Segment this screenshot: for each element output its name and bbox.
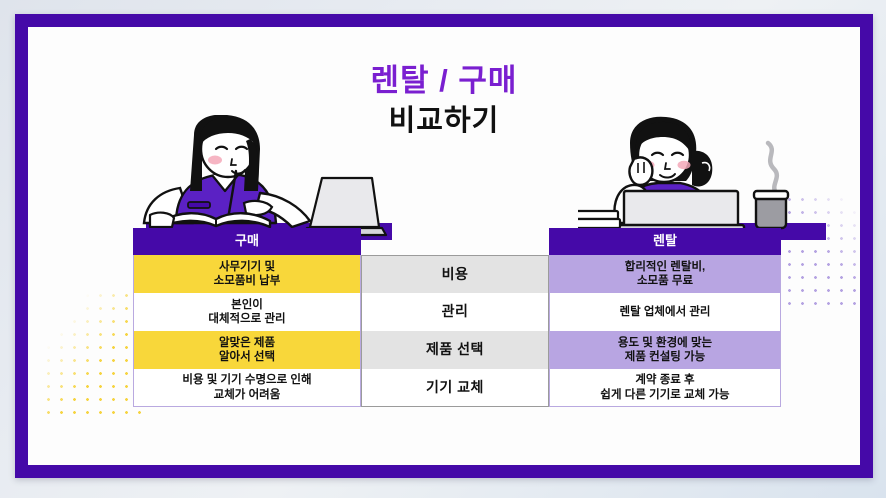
cell-rent-device-replacement-line-2: 쉽게 다른 기기로 교체 가능 [600, 388, 729, 402]
cell-label-management: 관리 [361, 293, 549, 331]
comparison-table: 구매 렌탈 사무기기 및 소모품비 납부 비용 합리적인 렌탈비, 소모품 무료 [133, 228, 781, 407]
cell-buy-device-replacement-line-1: 비용 및 기기 수명으로 인해 [182, 373, 311, 387]
table-header-middle-spacer [361, 228, 549, 255]
table-header-buy: 구매 [133, 228, 361, 255]
cell-rent-product-selection-line-1: 용도 및 환경에 맞는 [618, 336, 712, 350]
cell-buy-cost-line-2: 소모품비 납부 [214, 274, 281, 288]
cell-rent-product-selection: 용도 및 환경에 맞는 제품 컨설팅 가능 [549, 331, 781, 369]
cell-rent-cost-line-2: 소모품 무료 [625, 274, 705, 288]
cell-label-device-replacement: 기기 교체 [361, 369, 549, 407]
table-header-row: 구매 렌탈 [133, 228, 781, 255]
cell-rent-product-selection-line-2: 제품 컨설팅 가능 [618, 350, 712, 364]
cell-rent-device-replacement: 계약 종료 후 쉽게 다른 기기로 교체 가능 [549, 369, 781, 407]
cell-buy-product-selection-line-1: 알맞은 제품 [219, 336, 275, 350]
cell-buy-cost: 사무기기 및 소모품비 납부 [133, 255, 361, 293]
table-row: 사무기기 및 소모품비 납부 비용 합리적인 렌탈비, 소모품 무료 [133, 255, 781, 293]
table-row: 본인이 대체적으로 관리 관리 렌탈 업체에서 관리 [133, 293, 781, 331]
title-line-primary: 렌탈 / 구매 [28, 63, 860, 100]
cell-buy-product-selection: 알맞은 제품 알아서 선택 [133, 331, 361, 369]
cell-label-cost: 비용 [361, 255, 549, 293]
table-row: 알맞은 제품 알아서 선택 제품 선택 용도 및 환경에 맞는 제품 컨설팅 가… [133, 331, 781, 369]
cell-buy-device-replacement-line-2: 교체가 어려움 [182, 388, 311, 402]
table-row: 비용 및 기기 수명으로 인해 교체가 어려움 기기 교체 계약 종료 후 쉽게… [133, 369, 781, 407]
cell-rent-cost-line-1: 합리적인 렌탈비, [625, 260, 705, 274]
cell-rent-cost: 합리적인 렌탈비, 소모품 무료 [549, 255, 781, 293]
cell-label-product-selection: 제품 선택 [361, 331, 549, 369]
slide-frame: 렌탈 / 구매 비교하기 [15, 14, 873, 478]
cell-rent-device-replacement-line-1: 계약 종료 후 [600, 373, 729, 387]
cell-rent-management-line-1: 렌탈 업체에서 관리 [619, 305, 710, 319]
yellow-dot-grid-decoration [42, 289, 142, 419]
slide-canvas: 렌탈 / 구매 비교하기 [28, 27, 860, 465]
cell-buy-device-replacement: 비용 및 기기 수명으로 인해 교체가 어려움 [133, 369, 361, 407]
cell-buy-cost-line-1: 사무기기 및 [214, 260, 281, 274]
table-header-rent: 렌탈 [549, 228, 781, 255]
cell-buy-management-line-1: 본인이 [208, 298, 285, 312]
woman-studying-illustration [132, 115, 392, 245]
cell-rent-management: 렌탈 업체에서 관리 [549, 293, 781, 331]
cell-buy-product-selection-line-2: 알아서 선택 [219, 350, 275, 364]
cell-buy-management: 본인이 대체적으로 관리 [133, 293, 361, 331]
woman-with-coffee-illustration [578, 115, 828, 245]
cell-buy-management-line-2: 대체적으로 관리 [208, 312, 285, 326]
